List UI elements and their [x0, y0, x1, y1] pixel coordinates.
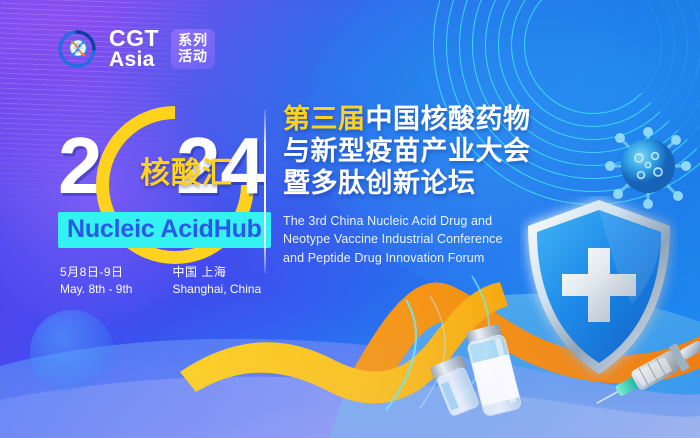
year-logo: 2 24 核酸汇: [58, 118, 273, 213]
title-line-1: 第三届中国核酸药物: [283, 104, 583, 136]
vaccine-vial-icon: [418, 318, 538, 438]
nucleic-acid-hub-label: Nucleic AcidHub: [67, 215, 262, 243]
title-line-2: 与新型疫苗产业大会: [283, 136, 583, 168]
title-divider: [264, 110, 266, 273]
cgt-asia-logo[interactable]: CGT Asia 系列 活动: [55, 26, 215, 72]
cgt-asia-wordmark: CGT Asia: [109, 28, 159, 69]
title-line-1-rest: 中国核酸药物: [366, 104, 531, 134]
title-highlight: 第三届: [283, 104, 366, 134]
hesuanhui-mark: 核酸汇: [140, 148, 233, 192]
conference-banner: CGT Asia 系列 活动 2 24 核酸汇 Nucleic AcidHub …: [0, 0, 700, 438]
event-place: 中国 上海 Shanghai, China: [172, 264, 261, 299]
decorative-circle: [30, 310, 114, 394]
event-date-cn: 5月8日-9日: [60, 264, 132, 281]
syringe-icon: [590, 330, 700, 414]
badge-line-2: 活动: [178, 49, 208, 65]
logo-line-1: CGT: [109, 28, 159, 49]
series-activity-badge: 系列 活动: [171, 29, 215, 68]
event-date-en: May. 8th - 9th: [60, 281, 132, 298]
nucleic-acid-hub-bar: Nucleic AcidHub: [58, 212, 271, 248]
badge-line-1: 系列: [178, 33, 208, 49]
event-place-cn: 中国 上海: [172, 264, 261, 281]
event-place-en: Shanghai, China: [172, 281, 261, 298]
logo-line-2: Asia: [109, 50, 159, 69]
title-line-3: 暨多肽创新论坛: [283, 168, 583, 200]
event-date: 5月8日-9日 May. 8th - 9th: [60, 264, 132, 299]
dna-helix-globe-icon: [55, 26, 101, 72]
event-meta: 5月8日-9日 May. 8th - 9th 中国 上海 Shanghai, C…: [60, 264, 261, 299]
